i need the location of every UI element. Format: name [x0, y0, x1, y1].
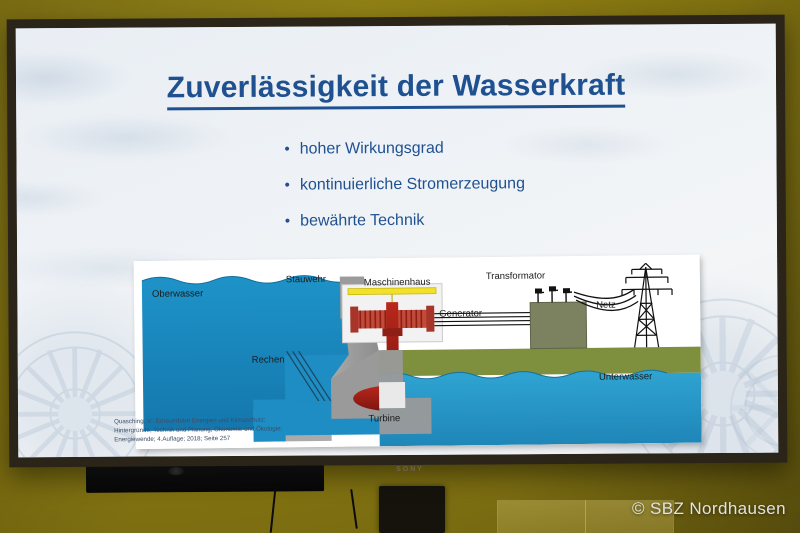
diagram-label-rechen: Rechen	[252, 354, 285, 365]
wall-equipment-box	[379, 486, 445, 533]
bullet-marker-icon: •	[284, 141, 289, 159]
bullet-marker-icon: •	[285, 177, 290, 195]
tv-brand-logo: SONY	[390, 466, 430, 475]
citation: Quasching, V.: Erneuerbare Energien und …	[114, 415, 340, 445]
list-item: • hoher Wirkungsgrad	[284, 139, 524, 158]
bullet-text: hoher Wirkungsgrad	[300, 140, 444, 159]
diagram-label-stauwehr: Stauwehr	[286, 274, 326, 285]
television: Zuverlässigkeit der Wasserkraft • hoher …	[7, 15, 788, 468]
presentation-slide: Zuverlässigkeit der Wasserkraft • hoher …	[16, 24, 779, 458]
soundbar-logo-icon	[168, 467, 184, 475]
slide-title: Zuverlässigkeit der Wasserkraft	[16, 68, 776, 107]
diagram-label-generator: Generator	[439, 308, 482, 319]
bullet-text: bewährte Technik	[300, 212, 424, 231]
diagram-label-unterwasser: Unterwasser	[599, 371, 652, 383]
bullet-text: kontinuierliche Stromerzeugung	[300, 175, 525, 194]
wall-panel-divider	[585, 500, 586, 533]
diagram-label-turbine: Turbine	[368, 413, 400, 424]
bullet-marker-icon: •	[285, 213, 290, 231]
background-cloud-watermark-right	[496, 24, 779, 256]
list-item: • kontinuierliche Stromerzeugung	[285, 175, 525, 194]
diagram-label-oberwasser: Oberwasser	[152, 288, 203, 300]
diagram-label-transformator: Transformator	[486, 270, 545, 282]
photo-watermark: © SBZ Nordhausen	[632, 499, 786, 519]
photo-scene: Zuverlässigkeit der Wasserkraft • hoher …	[0, 0, 800, 533]
tv-screen: Zuverlässigkeit der Wasserkraft • hoher …	[16, 24, 779, 458]
decorative-gear-icon	[718, 342, 779, 457]
bullet-list: • hoher Wirkungsgrad • kontinuierliche S…	[284, 139, 525, 248]
diagram-label-netz: Netz	[596, 300, 616, 311]
diagram-label-maschinenhaus: Maschinenhaus	[364, 277, 431, 289]
slide-title-text: Zuverlässigkeit der Wasserkraft	[167, 69, 626, 111]
list-item: • bewährte Technik	[285, 211, 525, 230]
